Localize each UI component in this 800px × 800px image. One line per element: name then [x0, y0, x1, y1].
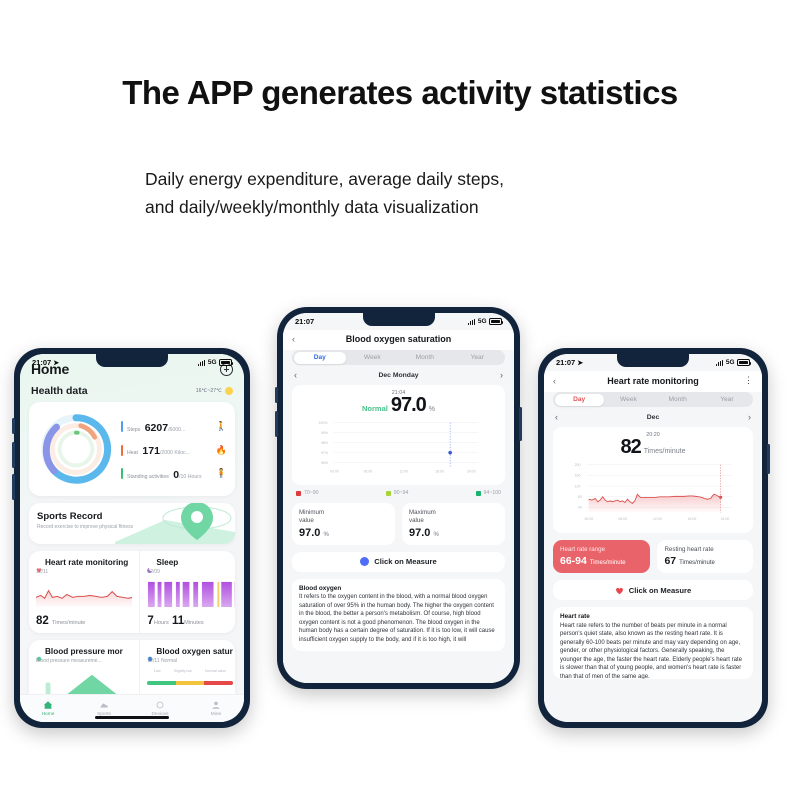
svg-text:18:00: 18:00 [435, 470, 444, 474]
maximum-label: Maximumvalue [409, 509, 498, 525]
min-max-cards: Minimumvalue 97.0 % Maximumvalue 97.0 % [292, 503, 505, 545]
signal-bars-icon [198, 360, 205, 366]
phone-center: 21:07 5G ‹ Blood oxygen saturation Day W [277, 307, 520, 689]
phone-notch [617, 354, 689, 367]
segment-day[interactable]: Day [294, 352, 347, 364]
phone-power-button [519, 407, 522, 441]
segment-year[interactable]: Year [702, 394, 751, 406]
page-title: The APP generates activity statistics [0, 74, 800, 112]
page-subtitle: Daily energy expenditure, average daily … [145, 165, 504, 222]
resting-heart-rate-label: Resting heart rate [664, 546, 746, 553]
signal-bars-icon [468, 319, 475, 325]
blood-oxygen-page: 21:07 5G ‹ Blood oxygen saturation Day W [283, 313, 514, 683]
phone-right-screen: 21:07 ➤ 5G ‹ Heart rate monitoring ⋮ Da [544, 354, 762, 722]
standing-icon: 🧍 [216, 468, 227, 479]
standing-value: 0/10 Hours [173, 469, 201, 481]
phone-side-button [12, 418, 15, 434]
reading-row: 82 Times/minute [559, 437, 747, 458]
heart-rate-range-label: Heart rate range [560, 546, 643, 553]
phone-volume-down-button [12, 474, 15, 500]
blood-oxygen-navbar: ‹ Blood oxygen saturation [283, 330, 514, 350]
phone-left-screen: 21:07 ➤ 5G Home Health data 16℃~27 [20, 354, 244, 722]
o2-tick-low: Low [154, 669, 161, 673]
mini-card-heart-rate-title: Heart rate monitoring [45, 558, 128, 567]
svg-text:06:00: 06:00 [618, 517, 627, 521]
location-pin-icon [115, 503, 235, 544]
sports-record-card[interactable]: Sports Record Record exercise to improve… [29, 503, 235, 544]
phone-center-screen: 21:07 5G ‹ Blood oxygen saturation Day W [283, 313, 514, 683]
svg-text:200: 200 [575, 463, 581, 467]
reading-unit: Times/minute [644, 448, 686, 455]
bp-illustration [36, 669, 132, 696]
mini-cards-row-1: Heart rate monitoring 12/11 82 Times/min… [29, 551, 235, 633]
heart-rate-range-card: Heart rate range 66-94 Times/minute [553, 540, 650, 573]
blood-oxygen-scroll[interactable]: ‹ Dec Monday › 21:04 Normal 97.0 % [283, 365, 514, 683]
info-body: Heart rate refers to the number of beats… [560, 622, 746, 680]
watch-circle-icon [132, 700, 188, 710]
mini-card-bp-title: Blood pressure mor [45, 647, 123, 656]
minimum-label: Minimumvalue [299, 509, 388, 525]
weather-widget: 16℃~27℃ [196, 387, 233, 395]
blood-oxygen-info-card: Blood oxygen It refers to the oxygen con… [292, 579, 505, 651]
mini-card-heart-rate-value: 82 Times/minute [36, 615, 132, 627]
stat-heat[interactable]: Heat 171/2000 Kiloc... 🔥 [121, 441, 227, 459]
o2-bar-green [147, 681, 175, 685]
activity-rings-chart [37, 410, 115, 488]
heart-rate-page: 21:07 ➤ 5G ‹ Heart rate monitoring ⋮ Da [544, 354, 762, 722]
heart-icon [36, 560, 42, 566]
maximum-value: 97.0 % [409, 527, 498, 539]
status-left: 21:07 ➤ [32, 358, 59, 367]
tab-sports[interactable]: Sports [76, 700, 132, 717]
mini-card-heart-rate-header: Heart rate monitoring [36, 558, 132, 567]
status-left: 21:07 ➤ [556, 358, 583, 367]
stat-standing[interactable]: Standing activities 0/10 Hours 🧍 [121, 465, 227, 483]
heart-rate-chart[interactable]: 200 160 120 80 40 00:00 06:00 12:00 [559, 458, 747, 524]
svg-text:40: 40 [578, 506, 582, 510]
phone-notch [96, 354, 168, 367]
phone-power-button [767, 444, 770, 474]
steps-value: 6207/6000... [145, 422, 186, 434]
info-heading: Blood oxygen [299, 585, 498, 592]
date-next-icon[interactable]: › [491, 370, 503, 380]
svg-text:97%: 97% [321, 451, 328, 455]
home-scroll[interactable]: Home Health data 16℃~27℃ [20, 354, 244, 722]
subtitle-line-1: Daily energy expenditure, average daily … [145, 165, 504, 193]
battery-icon [219, 359, 232, 366]
date-prev-icon[interactable]: ‹ [294, 370, 306, 380]
date-label: Dec Monday [378, 372, 418, 379]
phone-volume-up-button [275, 387, 278, 403]
location-arrow-icon: ➤ [53, 359, 59, 367]
blood-oxygen-chart-card: 21:04 Normal 97.0 % [292, 385, 505, 485]
minimum-value-card: Minimumvalue 97.0 % [292, 503, 395, 545]
date-prev-icon[interactable]: ‹ [555, 412, 567, 422]
heart-icon [615, 586, 624, 595]
tab-mine[interactable]: Mine [188, 700, 244, 717]
status-time: 21:07 [295, 317, 314, 326]
tab-home-label: Home [20, 712, 76, 717]
phone-volume-down-button [275, 411, 278, 437]
status-right: 5G [198, 359, 232, 366]
heart-rate-chart-card: 20:20 82 Times/minute [553, 427, 753, 533]
svg-text:00:00: 00:00 [330, 470, 339, 474]
standing-color-tick [121, 468, 123, 479]
svg-text:06:00: 06:00 [364, 470, 373, 474]
battery-icon [489, 318, 502, 325]
health-data-card[interactable]: Steps 6207/6000... 🚶 Heat 171/2000 Kiloc… [29, 402, 235, 496]
heart-rate-range-value: 66-94 Times/minute [560, 555, 643, 567]
segment-month[interactable]: Month [653, 394, 702, 406]
segment-year[interactable]: Year [451, 352, 504, 364]
phone-volume-up-button [12, 442, 15, 468]
status-time: 21:07 [556, 358, 575, 367]
heart-rate-scroll[interactable]: ‹ Dec › 20:20 82 Times/minute [544, 407, 762, 722]
standing-text: Standing activities 0/10 Hours [127, 465, 212, 483]
period-segmented-control-right[interactable]: Day Week Month Year [553, 392, 753, 407]
segment-day[interactable]: Day [555, 394, 604, 406]
legend-item-mid: 90~94 [386, 490, 409, 496]
signal-bars-icon [716, 360, 723, 366]
segment-week[interactable]: Week [604, 394, 653, 406]
status-badge: Normal [362, 404, 388, 413]
legend-item-normal: 94~100 [476, 490, 501, 496]
segment-month[interactable]: Month [399, 352, 452, 364]
svg-text:96%: 96% [321, 461, 328, 465]
blood-oxygen-legend: 70~90 90~94 94~100 [292, 485, 505, 496]
heat-text: Heat 171/2000 Kiloc... [127, 441, 212, 459]
tab-mine-label: Mine [188, 712, 244, 717]
kebab-menu-icon[interactable]: ⋮ [741, 375, 753, 386]
o2-tick-normal: Normal value [205, 669, 226, 673]
o2-tick-slightly-low: Slightly low [174, 669, 192, 673]
heart-rate-summary-pills: Heart rate range 66-94 Times/minute Rest… [553, 540, 753, 573]
svg-text:18:00: 18:00 [688, 517, 697, 521]
person-icon [188, 700, 244, 710]
date-navigator-center: ‹ Dec Monday › [292, 365, 505, 382]
weather-temp: 16℃~27℃ [196, 388, 222, 394]
heat-value: 171/2000 Kiloc... [142, 445, 190, 457]
blood-oxygen-chart[interactable]: 100% 99% 98% 97% 96% 00:00 06:00 12:00 1… [298, 416, 499, 476]
measure-button-label: Click on Measure [629, 586, 691, 595]
stat-steps[interactable]: Steps 6207/6000... 🚶 [121, 418, 227, 436]
home-indicator [95, 716, 169, 719]
steps-color-tick [121, 421, 123, 432]
flame-icon: 🔥 [216, 445, 227, 456]
segment-week[interactable]: Week [346, 352, 399, 364]
heart-rate-navbar: ‹ Heart rate monitoring ⋮ [544, 371, 762, 392]
status-right: 5G [716, 359, 750, 366]
svg-text:00:00: 00:00 [585, 517, 594, 521]
mini-card-o2-title: Blood oxygen satur [156, 647, 232, 656]
subtitle-line-2: and daily/weekly/monthly data visualizat… [145, 193, 504, 221]
location-arrow-icon: ➤ [577, 359, 583, 367]
sleep-bar-chart [147, 580, 235, 607]
tab-devices[interactable]: Devices [132, 700, 188, 717]
health-data-section-header: Health data 16℃~27℃ [29, 380, 235, 402]
steps-label: Steps [127, 427, 140, 433]
phone-notch [363, 313, 435, 326]
sun-icon [225, 387, 233, 395]
mini-card-o2-header: Blood oxygen satur [147, 647, 232, 656]
heart-rate-sparkline [36, 580, 132, 607]
bp-dot-icon [36, 649, 42, 655]
battery-icon [737, 359, 750, 366]
reading-unit: % [429, 406, 435, 413]
moon-icon [147, 560, 153, 566]
mini-card-heart-rate-date: 12/11 [36, 569, 132, 575]
network-label: 5G [208, 359, 217, 366]
reading-value: 82 [620, 437, 640, 458]
network-label: 5G [478, 318, 487, 325]
shoe-icon [76, 700, 132, 710]
mini-card-sleep[interactable]: Sleep 12/09 [139, 551, 235, 633]
date-label: Dec [647, 414, 659, 421]
mini-card-bp-subtitle: Blood pressure measureme... [36, 658, 132, 664]
measure-button-right[interactable]: Click on Measure [553, 580, 753, 600]
period-segmented-control-center[interactable]: Day Week Month Year [292, 350, 505, 365]
phone-right: 21:07 ➤ 5G ‹ Heart rate monitoring ⋮ Da [538, 348, 768, 728]
svg-text:24:00: 24:00 [721, 517, 730, 521]
health-stats-list: Steps 6207/6000... 🚶 Heat 171/2000 Kiloc… [121, 416, 227, 483]
status-right: 5G [468, 318, 502, 325]
maximum-value-card: Maximumvalue 97.0 % [402, 503, 505, 545]
svg-text:12:00: 12:00 [399, 470, 408, 474]
resting-heart-rate-card: Resting heart rate 67 Times/minute [657, 540, 753, 573]
home-icon [20, 700, 76, 710]
svg-text:99%: 99% [321, 431, 328, 435]
promo-page: The APP generates activity statistics Da… [0, 0, 800, 800]
status-time: 21:07 [32, 358, 51, 367]
mini-card-sleep-header: Sleep [147, 558, 235, 567]
measure-button-center[interactable]: Click on Measure [292, 552, 505, 572]
chevron-left-icon[interactable]: ‹ [553, 376, 565, 386]
reading-value: 97.0 [391, 395, 426, 416]
info-body: It refers to the oxygen content in the b… [299, 593, 498, 644]
steps-text: Steps 6207/6000... [127, 418, 212, 436]
legend-item-low: 70~90 [296, 490, 319, 496]
blood-oxygen-title: Blood oxygen saturation [304, 334, 493, 344]
svg-text:24:00: 24:00 [467, 470, 476, 474]
status-left: 21:07 [295, 317, 314, 326]
minimum-value: 97.0 % [299, 527, 388, 539]
chevron-left-icon[interactable]: ‹ [292, 334, 304, 344]
measure-button-label: Click on Measure [374, 557, 436, 566]
heat-color-tick [121, 445, 123, 456]
svg-text:100%: 100% [319, 421, 328, 425]
health-data-title: Health data [31, 385, 88, 397]
phone-left: 21:07 ➤ 5G Home Health data 16℃~27 [14, 348, 250, 728]
mini-card-bp-header: Blood pressure mor [36, 647, 132, 656]
svg-text:80: 80 [578, 495, 582, 499]
mini-card-sleep-title: Sleep [156, 558, 178, 567]
info-heading: Heart rate [560, 613, 746, 620]
o2-dot-icon [147, 649, 153, 655]
date-next-icon[interactable]: › [739, 412, 751, 422]
heat-label: Heat [127, 450, 138, 456]
o2-bar-yellow [176, 681, 204, 685]
resting-heart-rate-value: 67 Times/minute [664, 555, 746, 567]
o2-range-bar [147, 681, 232, 685]
svg-text:12:00: 12:00 [653, 517, 662, 521]
date-navigator-right: ‹ Dec › [553, 407, 753, 424]
reading-row: Normal 97.0 % [298, 395, 499, 416]
mini-card-heart-rate[interactable]: Heart rate monitoring 12/11 82 Times/min… [29, 551, 139, 633]
o2-bar-red [204, 681, 232, 685]
svg-text:98%: 98% [321, 441, 328, 445]
mini-card-sleep-date: 12/09 [147, 569, 235, 575]
heart-rate-info-card: Heart rate Heart rate refers to the numb… [553, 607, 753, 679]
svg-text:160: 160 [575, 474, 581, 478]
walking-icon: 🚶 [216, 421, 227, 432]
mini-card-o2-subtitle: 12/11 Normal [147, 658, 232, 664]
standing-label: Standing activities [127, 474, 169, 480]
svg-text:120: 120 [575, 484, 581, 488]
heart-rate-title: Heart rate monitoring [565, 376, 741, 386]
o2-range-ticks: Low Slightly low Normal value [147, 669, 232, 673]
tab-home[interactable]: Home [20, 700, 76, 717]
mini-card-sleep-value: 7Hours 11Minutes [147, 615, 235, 627]
network-label: 5G [726, 359, 735, 366]
o2-drop-icon [360, 557, 369, 566]
